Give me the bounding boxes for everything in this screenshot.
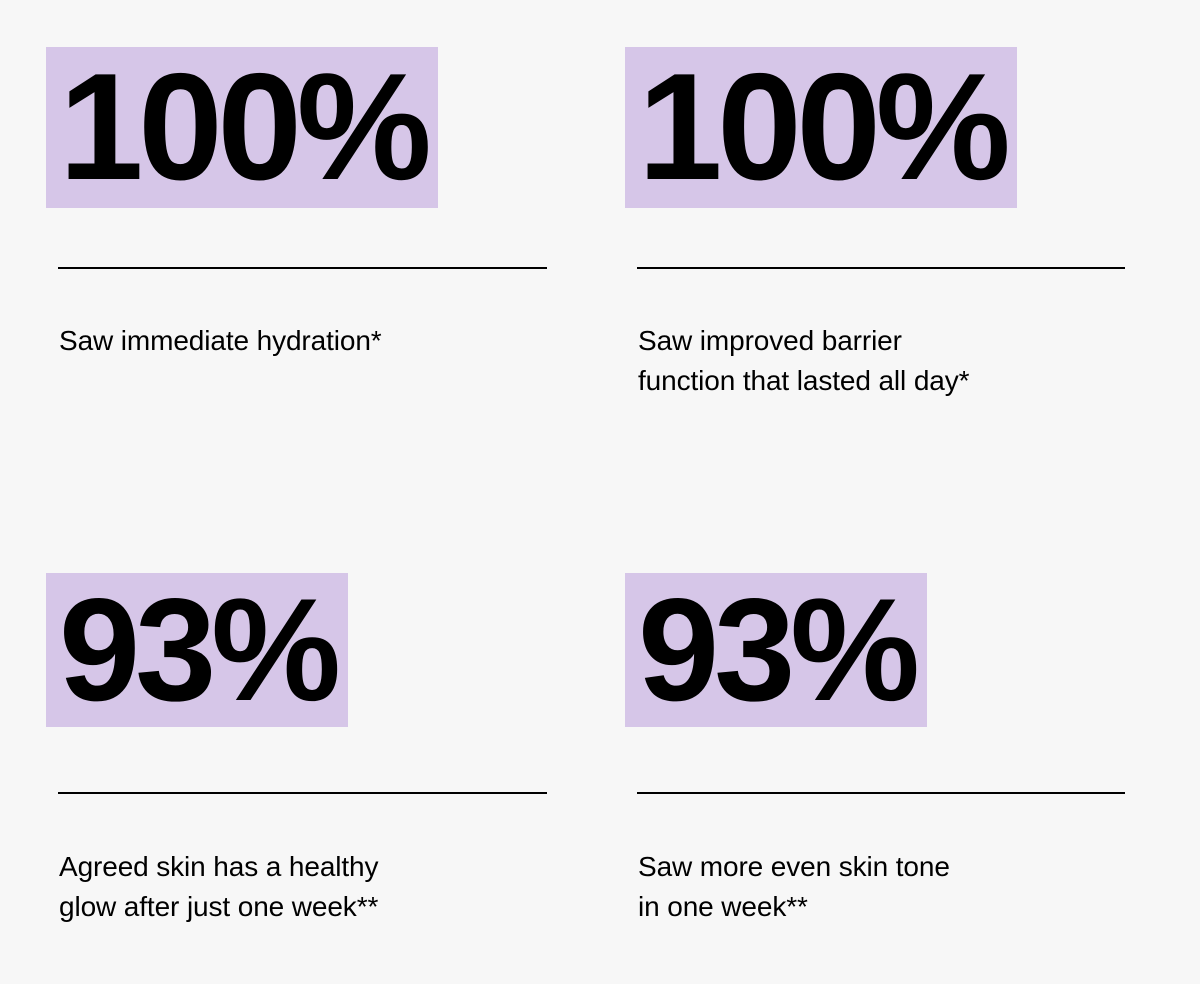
stat-divider — [637, 267, 1125, 269]
stat-card-healthy-glow: 93% Agreed skin has a healthy glow after… — [46, 573, 547, 727]
stat-caption: Agreed skin has a healthy glow after jus… — [59, 847, 539, 927]
stat-figure-value: 100% — [625, 47, 1017, 208]
stat-figure-value: 100% — [46, 47, 438, 208]
stat-divider — [58, 792, 547, 794]
stat-card-immediate-hydration: 100% Saw immediate hydration* — [46, 47, 547, 208]
stat-card-even-skin-tone: 93% Saw more even skin tone in one week*… — [625, 573, 1125, 727]
stat-figure-value: 93% — [46, 573, 348, 727]
stats-grid: 100% Saw immediate hydration* 100% Saw i… — [0, 0, 1200, 984]
stat-figure-value: 93% — [625, 573, 927, 727]
stat-card-barrier-function: 100% Saw improved barrier function that … — [625, 47, 1125, 208]
stat-divider — [637, 792, 1125, 794]
stat-divider — [58, 267, 547, 269]
stat-caption: Saw immediate hydration* — [59, 321, 539, 361]
stat-caption: Saw improved barrier function that laste… — [638, 321, 1118, 401]
stat-caption: Saw more even skin tone in one week** — [638, 847, 1118, 927]
